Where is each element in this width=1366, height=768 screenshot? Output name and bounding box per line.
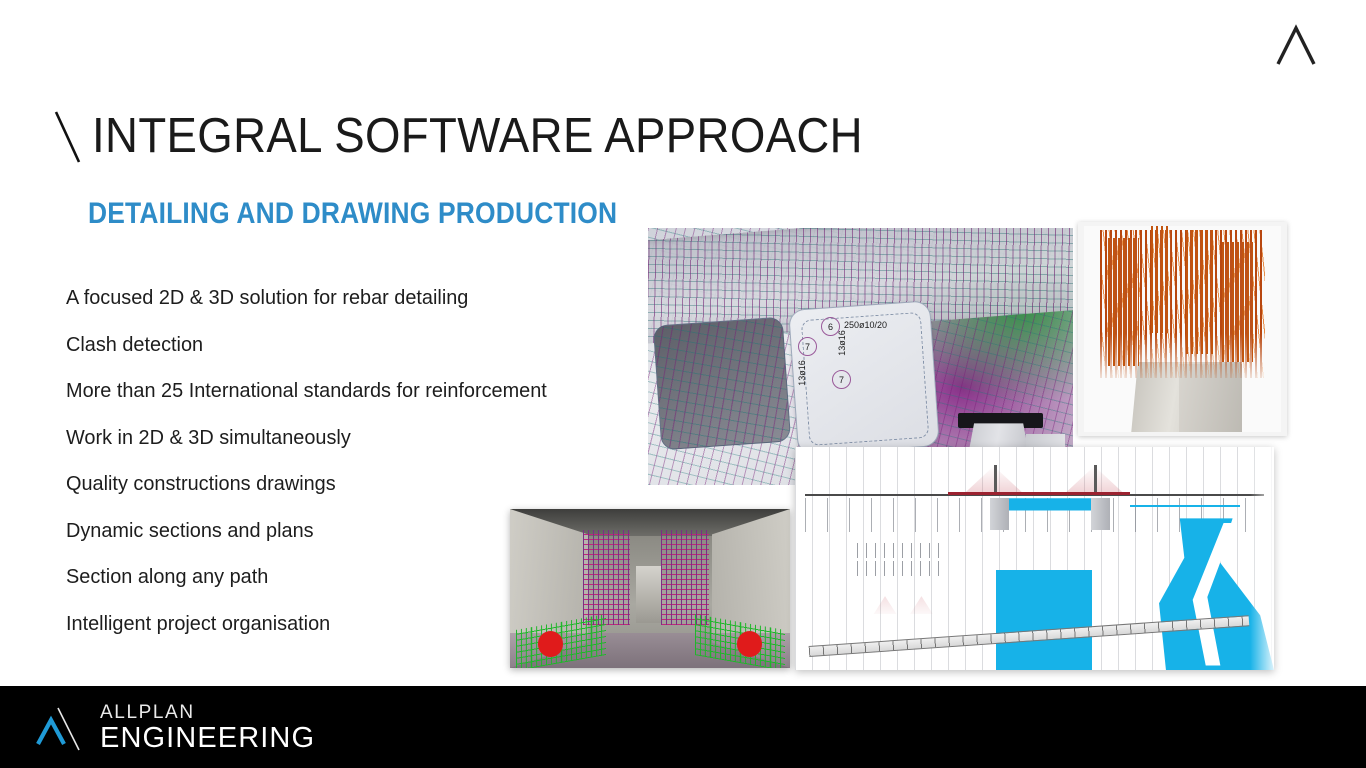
bridge-cad-general-arrangement-drawing	[795, 447, 1274, 670]
red-marker-left	[538, 631, 563, 656]
title-backslash-icon	[52, 108, 86, 166]
list-item: Clash detection	[66, 333, 648, 357]
rebar-annotation-label: 250ø10/20	[844, 320, 887, 330]
cad-water-body-elevation	[1001, 498, 1097, 510]
cad-detail-elevation-2	[857, 561, 943, 577]
rebar-bundle	[1186, 230, 1214, 354]
rebar-annotation-label: 13ø16	[797, 360, 807, 386]
cad-water-line	[1130, 505, 1240, 507]
tunnel-far-end	[636, 566, 661, 623]
tunnel-interior-rebar-render	[510, 509, 790, 668]
rebar-cage-right	[661, 530, 709, 625]
page-subtitle: DETAILING AND DRAWING PRODUCTION	[88, 196, 617, 232]
slide-footer: ALLPLAN ENGINEERING	[0, 686, 1366, 768]
rebar-mark-circle: 7	[832, 370, 851, 389]
cad-sheet	[795, 447, 1274, 670]
brand-name-bottom: ENGINEERING	[100, 723, 315, 754]
brand-name-top: ALLPLAN	[100, 702, 315, 723]
web-dashed-outline	[801, 312, 929, 446]
rebar-cage-left	[583, 530, 631, 625]
allplan-engineering-logo: ALLPLAN ENGINEERING	[32, 700, 315, 756]
rebar-annotation-label: 13ø16	[837, 330, 847, 356]
opening-mesh	[653, 317, 789, 449]
page-title: INTEGRAL SOFTWARE APPROACH	[52, 108, 921, 166]
cad-bridge-deck-highlight	[948, 492, 1130, 495]
list-item: Quality constructions drawings	[66, 472, 648, 496]
page-title-text: INTEGRAL SOFTWARE APPROACH	[92, 108, 863, 164]
allplan-chevron-slash-logo-icon	[32, 700, 94, 756]
web-opening	[652, 316, 790, 450]
cad-pylon-tower-right	[1091, 498, 1110, 529]
cad-plan-water-body	[996, 570, 1092, 670]
rebar-mark-circle: 7	[798, 337, 817, 356]
list-item: More than 25 International standards for…	[66, 379, 648, 403]
rebar-bundle	[1151, 226, 1171, 333]
list-item: A focused 2D & 3D solution for rebar det…	[66, 286, 648, 310]
rebar-bundle	[1108, 238, 1140, 366]
cad-detail-elevation-1	[857, 543, 943, 559]
cad-edge-fade	[1250, 447, 1274, 670]
red-marker-right	[737, 631, 762, 656]
logo-wordmark: ALLPLAN ENGINEERING	[100, 702, 315, 754]
column-rebar-cage-render	[1078, 222, 1287, 436]
list-item: Work in 2D & 3D simultaneously	[66, 426, 648, 450]
chevron-up-mark-icon	[1272, 22, 1320, 68]
rebar-bundle	[1222, 242, 1254, 361]
column-render-canvas	[1084, 226, 1281, 432]
presentation-slide: INTEGRAL SOFTWARE APPROACH DETAILING AND…	[0, 0, 1366, 768]
cad-pylon-tower-left	[990, 498, 1009, 529]
